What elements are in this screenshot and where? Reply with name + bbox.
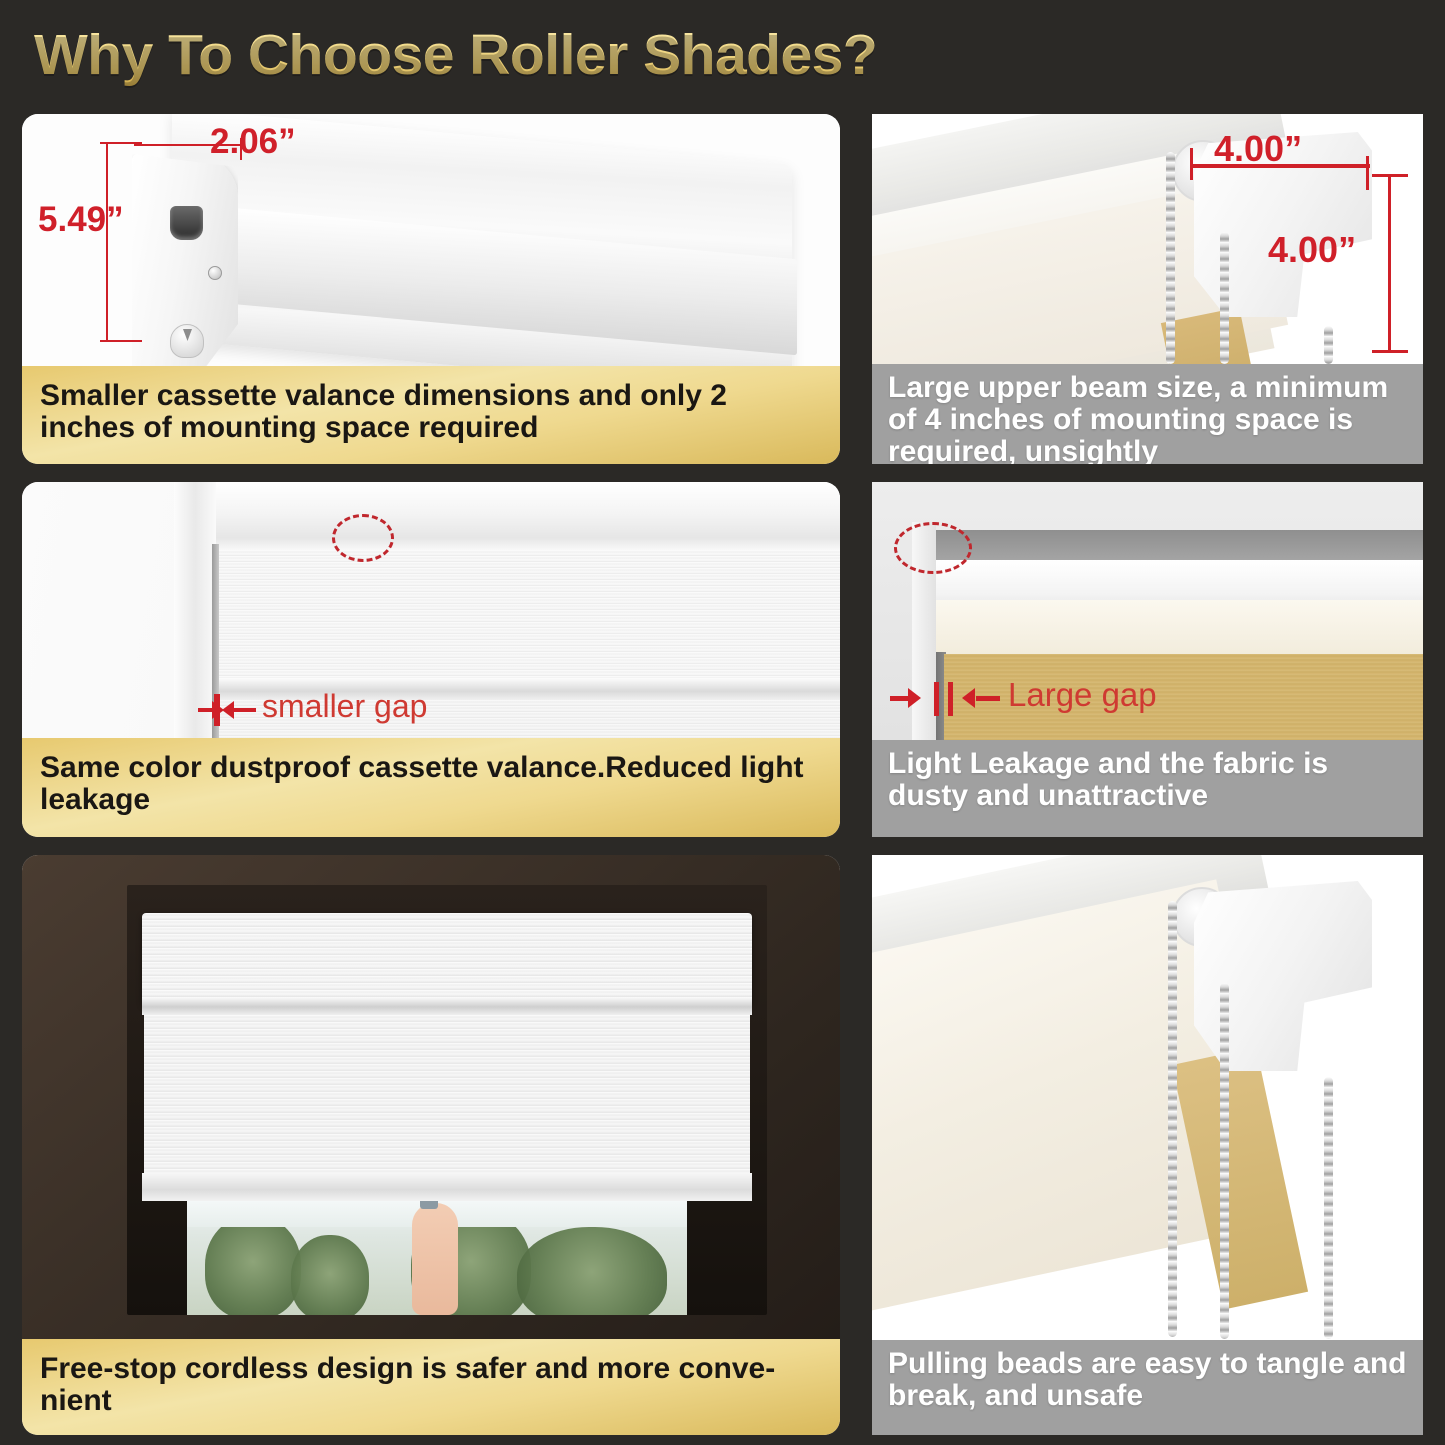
large-gap-label: Large gap	[1008, 676, 1157, 714]
panel-1-photo: 5.49” 2.06”	[22, 114, 840, 366]
panel-5-caption-text: Free-stop cordless design is safer and m…	[22, 1339, 840, 1418]
panel-dustproof-valance[interactable]: smaller gap Same color dustproof cassett…	[22, 482, 840, 837]
gap-marker-b	[948, 682, 953, 716]
gap-arrow-right-head	[962, 688, 975, 708]
beam-height-label: 4.00”	[1268, 229, 1356, 271]
bead-chain-right	[1324, 1077, 1333, 1339]
comparison-grid: 5.49” 2.06” Smaller cassette valance dim…	[0, 104, 1445, 1445]
beam-height-tick-top	[1372, 174, 1408, 177]
highlight-circle	[894, 522, 972, 574]
panel-6-photo	[872, 855, 1423, 1340]
panel-3-caption-text: Same color dustproof cassette valance.Re…	[22, 738, 840, 817]
page-header: Why To Choose Roller Shades?	[34, 20, 1134, 90]
panel-3-caption-bar: Same color dustproof cassette valance.Re…	[22, 738, 840, 837]
panel-2-caption-text: Large upper beam size, a minimum of 4 in…	[872, 364, 1423, 464]
gap-arrow-right-shaft	[234, 708, 256, 712]
panel-5-photo	[22, 855, 840, 1339]
panel-cordless-design[interactable]: Free-stop cordless design is safer and m…	[22, 855, 840, 1435]
gap-arrow-left-shaft	[890, 696, 910, 701]
beam-width-label: 4.00”	[1214, 128, 1302, 170]
gap-marker-a	[934, 682, 939, 716]
panel-6-caption-text: Pulling beads are easy to tangle and bre…	[872, 1340, 1423, 1412]
panel-large-upper-beam[interactable]: 4.00” 4.00” Large upper beam size, a min…	[872, 114, 1423, 464]
panel-2-caption-bar: Large upper beam size, a minimum of 4 in…	[872, 364, 1423, 464]
smaller-gap-label: smaller gap	[262, 688, 427, 725]
panel-2-photo: 4.00” 4.00”	[872, 114, 1423, 364]
gap-arrow-left-head	[908, 688, 921, 708]
height-dimension-line	[106, 142, 108, 342]
beam-width-tick-right	[1366, 156, 1369, 190]
page-title: Why To Choose Roller Shades?	[34, 20, 1134, 90]
panel-smaller-cassette[interactable]: 5.49” 2.06” Smaller cassette valance dim…	[22, 114, 840, 464]
panel-6-caption-bar: Pulling beads are easy to tangle and bre…	[872, 1340, 1423, 1435]
panel-5-caption-bar: Free-stop cordless design is safer and m…	[22, 1339, 840, 1435]
panel-3-photo: smaller gap	[22, 482, 840, 738]
panel-pulling-beads[interactable]: Pulling beads are easy to tangle and bre…	[872, 855, 1423, 1435]
panel-light-leakage[interactable]: Large gap Light Leakage and the fabric i…	[872, 482, 1423, 837]
hand	[412, 1203, 458, 1315]
panel-4-caption-bar: Light Leakage and the fabric is dusty an…	[872, 740, 1423, 837]
beam-height-tick-bottom	[1372, 350, 1408, 353]
height-dimension-label: 5.49”	[38, 200, 124, 240]
width-dimension-label: 2.06”	[210, 122, 296, 162]
panel-4-caption-text: Light Leakage and the fabric is dusty an…	[872, 740, 1423, 812]
beam-width-tick-left	[1190, 148, 1193, 180]
bead-chain-mid	[1220, 983, 1229, 1339]
panel-1-caption-bar: Smaller cassette valance dimensions and …	[22, 366, 840, 464]
bead-chain-left	[1166, 152, 1175, 364]
highlight-circle	[332, 514, 394, 562]
gap-arrow-right-head	[222, 701, 234, 719]
height-dimension-tick-bottom	[100, 340, 142, 342]
bead-chain-left	[1168, 901, 1177, 1337]
bead-chain-mid	[1220, 232, 1229, 364]
bead-chain-right	[1324, 326, 1333, 364]
panel-1-caption-text: Smaller cassette valance dimensions and …	[22, 366, 840, 445]
panel-4-photo: Large gap	[872, 482, 1423, 740]
gap-arrow-right-shaft	[976, 696, 1000, 701]
beam-height-line	[1388, 174, 1391, 352]
